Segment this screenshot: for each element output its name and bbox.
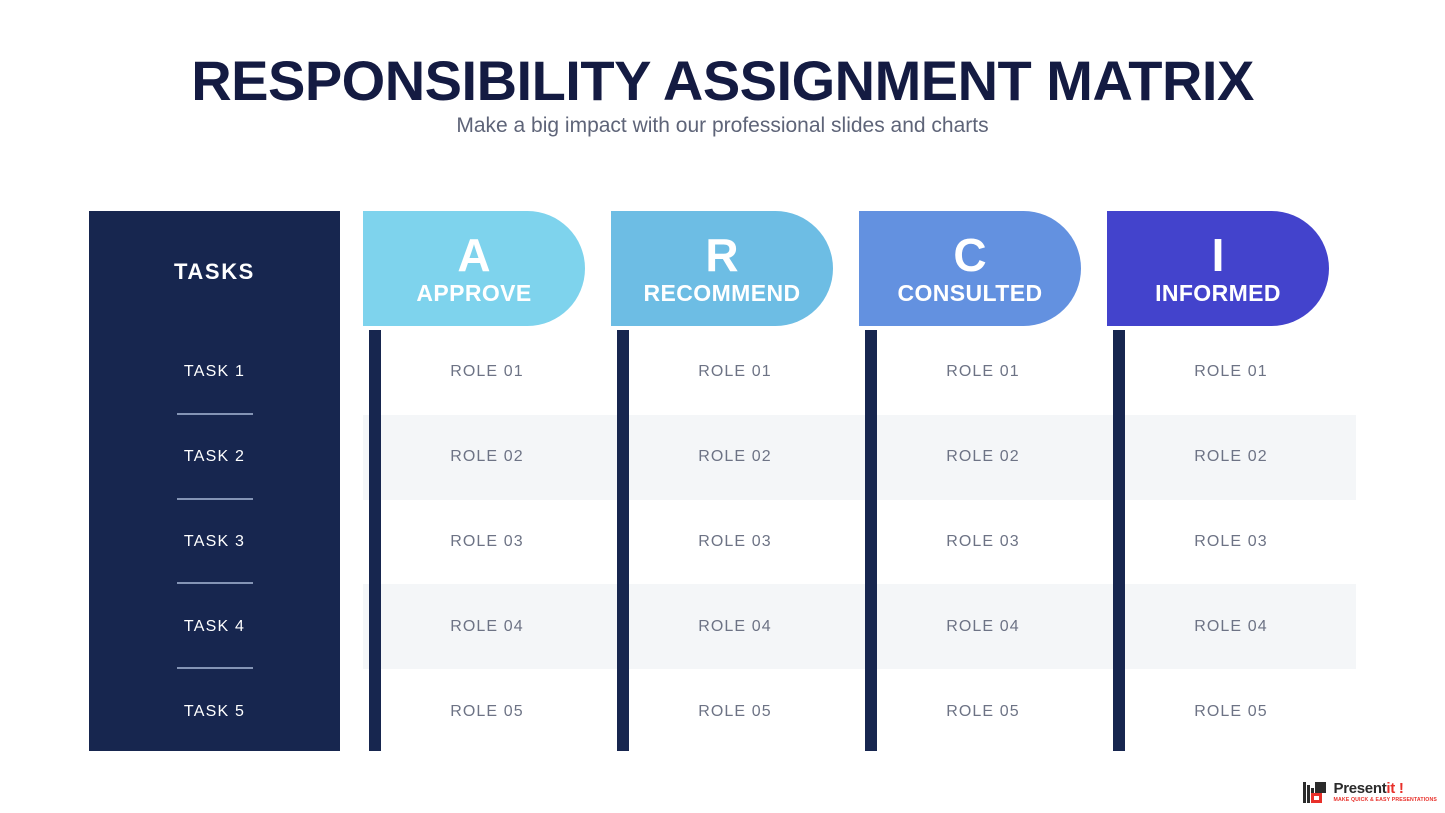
- task-label: TASK 4: [184, 618, 245, 636]
- cell-label: ROLE 02: [1194, 448, 1268, 466]
- raci-matrix: TASKS TASK 1 TASK 2 TASK 3 TASK 4: [89, 211, 1356, 751]
- column-header-pill[interactable]: I INFORMED: [1107, 211, 1329, 326]
- table-row: ROLE 04 ROLE 04 ROLE 04 ROLE 04: [363, 584, 1356, 669]
- table-row: ROLE 01 ROLE 01 ROLE 01 ROLE 01: [363, 330, 1356, 415]
- tasks-heading: TASKS: [89, 259, 340, 285]
- matrix-cell[interactable]: ROLE 02: [859, 415, 1107, 500]
- column-name: CONSULTED: [897, 282, 1042, 305]
- cell-label: ROLE 01: [946, 363, 1020, 381]
- matrix-cell[interactable]: ROLE 04: [363, 584, 611, 669]
- cell-label: ROLE 03: [1194, 533, 1268, 551]
- column-header-pill[interactable]: C CONSULTED: [859, 211, 1081, 326]
- cell-label: ROLE 02: [946, 448, 1020, 466]
- column-header-pill[interactable]: R RECOMMEND: [611, 211, 833, 326]
- logo-name-main: Present: [1333, 780, 1386, 797]
- task-row[interactable]: TASK 1: [89, 330, 340, 415]
- logo-title: Presentit !: [1333, 781, 1437, 796]
- task-row[interactable]: TASK 5: [89, 669, 340, 754]
- task-label: TASK 3: [184, 533, 245, 551]
- slide-canvas: RESPONSIBILITY ASSIGNMENT MATRIX Make a …: [0, 0, 1445, 813]
- column-letter: I: [1212, 232, 1225, 278]
- matrix-cell[interactable]: ROLE 04: [1107, 584, 1355, 669]
- task-row[interactable]: TASK 3: [89, 500, 340, 585]
- page-title: RESPONSIBILITY ASSIGNMENT MATRIX: [0, 48, 1445, 113]
- matrix-cell[interactable]: ROLE 01: [363, 330, 611, 415]
- matrix-cell[interactable]: ROLE 01: [859, 330, 1107, 415]
- column-letter: A: [457, 232, 490, 278]
- column-name: INFORMED: [1155, 282, 1281, 305]
- task-label: TASK 1: [184, 363, 245, 381]
- cell-label: ROLE 05: [1194, 703, 1268, 721]
- cell-label: ROLE 03: [698, 533, 772, 551]
- matrix-cell[interactable]: ROLE 05: [1107, 669, 1355, 754]
- cell-label: ROLE 05: [450, 703, 524, 721]
- table-row: ROLE 05 ROLE 05 ROLE 05 ROLE 05: [363, 669, 1356, 754]
- matrix-cell[interactable]: ROLE 05: [859, 669, 1107, 754]
- table-row: ROLE 02 ROLE 02 ROLE 02 ROLE 02: [363, 415, 1356, 500]
- matrix-cell[interactable]: ROLE 05: [611, 669, 859, 754]
- page-subtitle: Make a big impact with our professional …: [0, 114, 1445, 138]
- matrix-cell[interactable]: ROLE 02: [611, 415, 859, 500]
- cell-label: ROLE 05: [946, 703, 1020, 721]
- cell-label: ROLE 05: [698, 703, 772, 721]
- cell-label: ROLE 01: [698, 363, 772, 381]
- cell-label: ROLE 03: [450, 533, 524, 551]
- cell-label: ROLE 03: [946, 533, 1020, 551]
- logo-name-accent: it !: [1386, 780, 1403, 797]
- matrix-cell[interactable]: ROLE 04: [859, 584, 1107, 669]
- matrix-cell[interactable]: ROLE 02: [1107, 415, 1355, 500]
- cell-label: ROLE 04: [946, 618, 1020, 636]
- column-name: RECOMMEND: [644, 282, 801, 305]
- matrix-cells: ROLE 01 ROLE 01 ROLE 01 ROLE 01 ROLE 02 …: [363, 330, 1356, 751]
- matrix-cell[interactable]: ROLE 03: [611, 500, 859, 585]
- cell-label: ROLE 04: [450, 618, 524, 636]
- brand-logo: Presentit ! MAKE QUICK & EASY PRESENTATI…: [1303, 780, 1437, 805]
- matrix-cell[interactable]: ROLE 04: [611, 584, 859, 669]
- matrix-cell[interactable]: ROLE 03: [1107, 500, 1355, 585]
- task-row[interactable]: TASK 4: [89, 584, 340, 669]
- logo-tagline: MAKE QUICK & EASY PRESENTATIONS: [1333, 798, 1437, 803]
- cell-label: ROLE 02: [698, 448, 772, 466]
- matrix-cell[interactable]: ROLE 03: [859, 500, 1107, 585]
- matrix-cell[interactable]: ROLE 03: [363, 500, 611, 585]
- tasks-panel: TASKS TASK 1 TASK 2 TASK 3 TASK 4: [89, 211, 340, 751]
- matrix-cell[interactable]: ROLE 05: [363, 669, 611, 754]
- table-row: ROLE 03 ROLE 03 ROLE 03 ROLE 03: [363, 500, 1356, 585]
- column-letter: C: [953, 232, 986, 278]
- presentit-logo-icon: [1303, 780, 1328, 805]
- task-list: TASK 1 TASK 2 TASK 3 TASK 4 TASK 5: [89, 330, 340, 751]
- cell-label: ROLE 02: [450, 448, 524, 466]
- task-label: TASK 2: [184, 448, 245, 466]
- matrix-cell[interactable]: ROLE 01: [1107, 330, 1355, 415]
- column-header-pill[interactable]: A APPROVE: [363, 211, 585, 326]
- task-row[interactable]: TASK 2: [89, 415, 340, 500]
- cell-label: ROLE 01: [450, 363, 524, 381]
- cell-label: ROLE 04: [698, 618, 772, 636]
- cell-label: ROLE 01: [1194, 363, 1268, 381]
- column-letter: R: [705, 232, 738, 278]
- matrix-cell[interactable]: ROLE 01: [611, 330, 859, 415]
- column-name: APPROVE: [416, 282, 531, 305]
- matrix-cell[interactable]: ROLE 02: [363, 415, 611, 500]
- task-label: TASK 5: [184, 703, 245, 721]
- cell-label: ROLE 04: [1194, 618, 1268, 636]
- logo-text: Presentit ! MAKE QUICK & EASY PRESENTATI…: [1333, 781, 1437, 803]
